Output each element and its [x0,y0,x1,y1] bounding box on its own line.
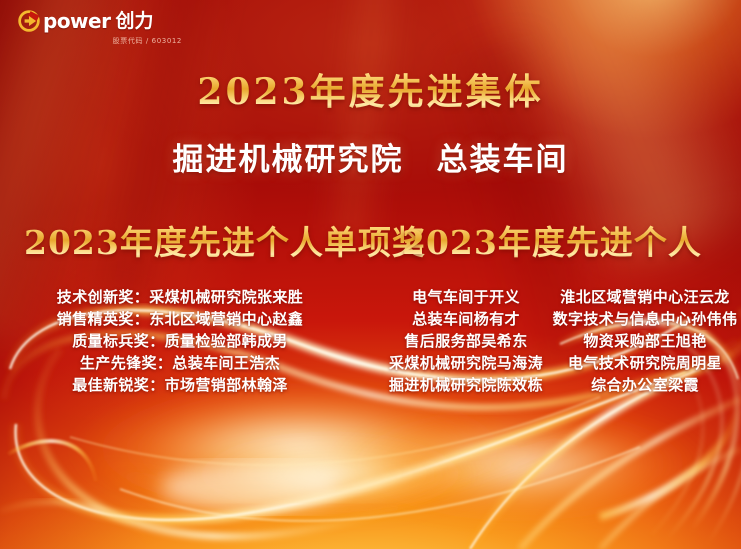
page-title: 2023年度先进集体 [0,63,741,115]
person-name: 物资采购部王旭艳 [552,330,738,352]
person-name: 电气车间于开义 [380,286,552,308]
list-item: 销售精英奖：东北区域营销中心赵鑫 [0,308,360,330]
person-name: 数字技术与信息中心孙伟伟 [552,308,738,330]
person-name: 总装车间杨有才 [380,308,552,330]
list-item: 生产先锋奖：总装车间王浩杰 [0,352,360,374]
page-subtitle: 掘进机械研究院 总装车间 [0,134,741,179]
person-name: 综合办公室梁霞 [552,374,738,396]
single-award-list: 技术创新奖：采煤机械研究院张来胜 销售精英奖：东北区域营销中心赵鑫 质量标兵奖：… [0,286,360,396]
list-item: 技术创新奖：采煤机械研究院张来胜 [0,286,360,308]
list-item: 电气车间于开义 淮北区域营销中心汪云龙 [380,286,738,308]
c-power-logo-mark-icon [18,10,40,32]
company-logo[interactable]: power 创力 股票代码 / 603012 [18,10,198,46]
list-item: 最佳新锐奖：市场营销部林翰泽 [0,374,360,396]
list-item: 质量标兵奖：质量检验部韩成男 [0,330,360,352]
logo-wordmark: power [43,11,110,31]
person-name: 掘进机械研究院陈效栋 [380,374,552,396]
list-item: 售后服务部吴希东 物资采购部王旭艳 [380,330,738,352]
person-name: 采煤机械研究院马海涛 [380,352,552,374]
award-slide: power 创力 股票代码 / 603012 2023年度先进集体 掘进机械研究… [0,0,741,549]
section-heading-advanced-individuals: 2023年度先进个人 [402,216,702,264]
list-item: 掘进机械研究院陈效栋 综合办公室梁霞 [380,374,738,396]
logo-wordmark-cn: 创力 [115,12,153,31]
person-name: 电气技术研究院周明星 [552,352,738,374]
list-item: 总装车间杨有才 数字技术与信息中心孙伟伟 [380,308,738,330]
person-name: 售后服务部吴希东 [380,330,552,352]
section-heading-single-awards: 2023年度先进个人单项奖 [24,216,426,264]
stock-code-label: 股票代码 / 603012 [18,36,198,46]
list-item: 采煤机械研究院马海涛 电气技术研究院周明星 [380,352,738,374]
person-name: 淮北区域营销中心汪云龙 [552,286,738,308]
advanced-individual-list: 电气车间于开义 淮北区域营销中心汪云龙 总装车间杨有才 数字技术与信息中心孙伟伟… [380,286,738,396]
